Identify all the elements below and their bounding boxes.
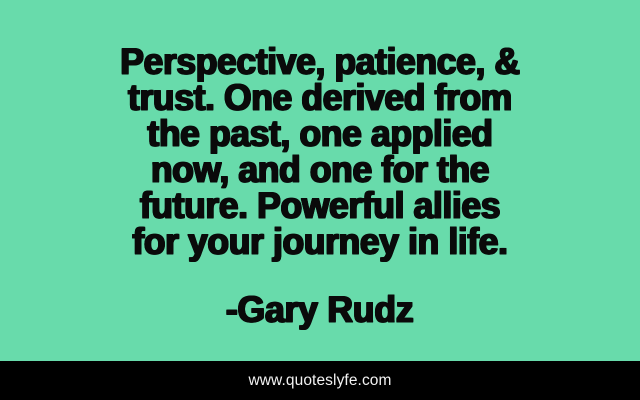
quote-line: now, and one for the <box>13 152 627 188</box>
quote-line: trust. One derived from <box>13 80 627 116</box>
quote-line: future. Powerful allies <box>13 188 627 224</box>
footer-website-url[interactable]: www.quoteslyfe.com <box>248 372 391 390</box>
quote-line: Perspective, patience, & <box>13 44 627 80</box>
quote-author-block: -Gary Rudz <box>0 292 640 328</box>
quote-author-label: -Gary Rudz <box>226 292 414 328</box>
quote-card: Perspective, patience, & trust. One deri… <box>0 0 640 400</box>
quote-text-block: Perspective, patience, & trust. One deri… <box>0 44 640 260</box>
quote-line: for your journey in life. <box>13 224 627 260</box>
quote-line: the past, one applied <box>13 116 627 152</box>
footer-bar: www.quoteslyfe.com <box>0 361 640 400</box>
